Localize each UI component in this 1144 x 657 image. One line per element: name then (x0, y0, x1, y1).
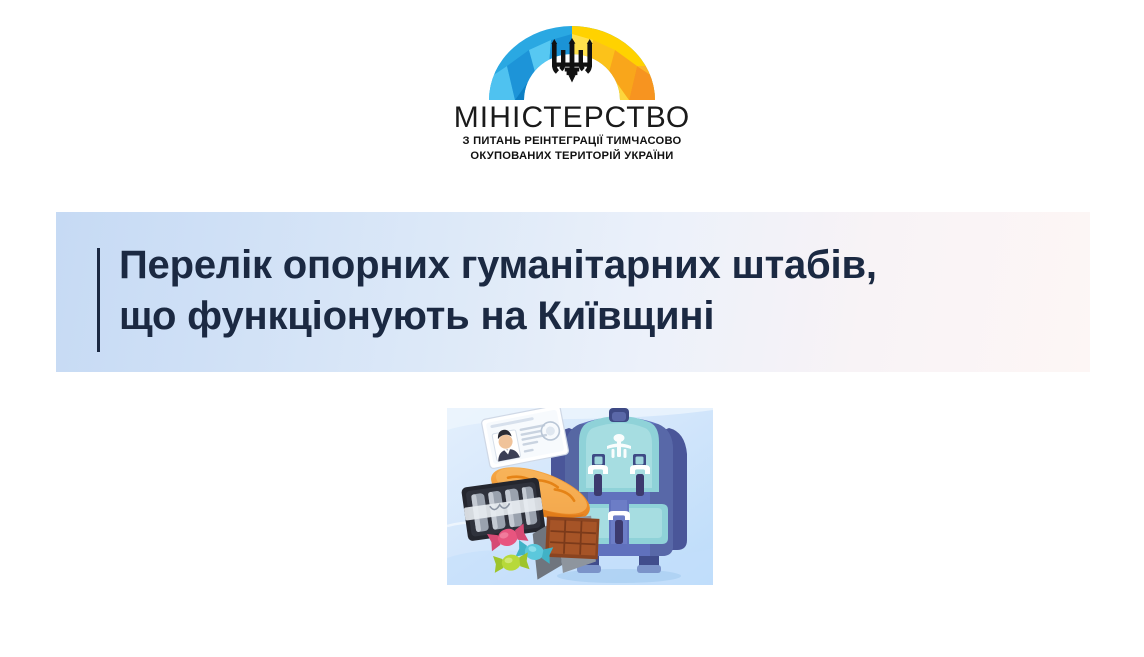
title-accent-bar (97, 248, 100, 352)
ministry-subline-1: З ПИТАНЬ РЕІНТЕГРАЦІЇ ТИМЧАСОВО (462, 134, 681, 148)
ministry-wordmark: МІНІСТЕРСТВО (454, 102, 691, 134)
ukraine-arch-emblem-icon (489, 26, 655, 100)
ministry-subline-2: ОКУПОВАНИХ ТЕРИТОРІЙ УКРАЇНИ (470, 149, 673, 163)
page-root: МІНІСТЕРСТВО З ПИТАНЬ РЕІНТЕГРАЦІЇ ТИМЧА… (0, 0, 1144, 657)
ministry-logo: МІНІСТЕРСТВО З ПИТАНЬ РЕІНТЕГРАЦІЇ ТИМЧА… (0, 26, 1144, 163)
title-banner: Перелік опорних гуманітарних штабів, що … (56, 212, 1090, 372)
page-title: Перелік опорних гуманітарних штабів, що … (119, 240, 1069, 342)
humanitarian-aid-illustration (447, 408, 713, 585)
